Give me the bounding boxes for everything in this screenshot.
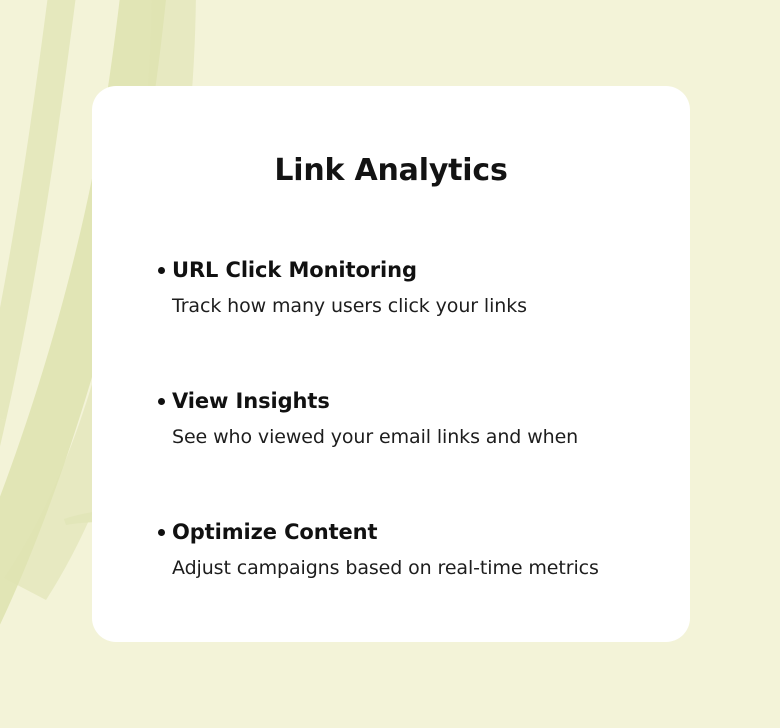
arc-thin-left-lower [0,414,6,620]
page-title: Link Analytics [92,156,690,186]
bullet-dot-icon [158,267,165,274]
feature-heading: View Insights [172,389,678,413]
feature-subtitle: See who viewed your email links and when [172,426,678,449]
feature-heading: URL Click Monitoring [172,258,678,282]
list-item: URL Click Monitoring Track how many user… [158,258,678,318]
bullet-dot-icon [158,398,165,405]
arc-thin-outer [0,0,78,420]
feature-list: URL Click Monitoring Track how many user… [158,258,678,580]
page-canvas: Link Analytics URL Click Monitoring Trac… [0,0,780,728]
feature-subtitle: Track how many users click your links [172,295,678,318]
list-item: View Insights See who viewed your email … [158,389,678,449]
feature-heading: Optimize Content [172,520,678,544]
list-item: Optimize Content Adjust campaigns based … [158,520,678,580]
bullet-dot-icon [158,529,165,536]
feature-subtitle: Adjust campaigns based on real-time metr… [172,557,678,580]
link-analytics-card: Link Analytics URL Click Monitoring Trac… [92,86,690,642]
